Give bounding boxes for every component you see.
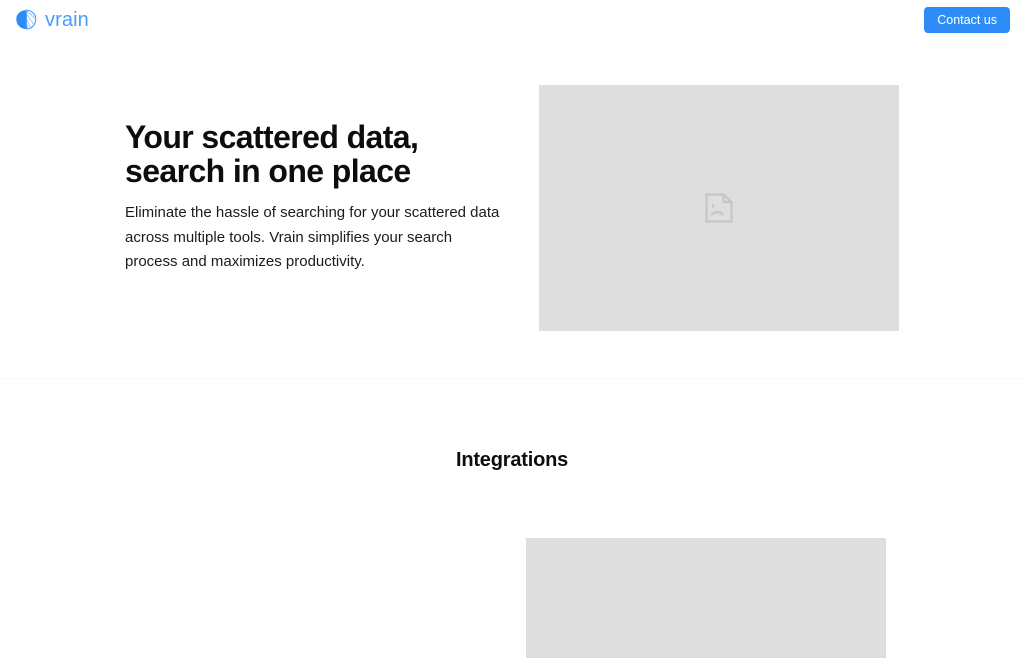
integrations-image-placeholder <box>526 538 886 658</box>
hero-section: Your scattered data, search in one place… <box>0 40 1024 378</box>
brain-logo-icon <box>14 8 38 32</box>
hero-copy-block: Your scattered data, search in one place… <box>125 120 520 275</box>
broken-image-icon <box>705 193 733 223</box>
hero-heading: Your scattered data, search in one place <box>125 120 520 188</box>
top-navbar: vrain Contact us <box>0 0 1024 40</box>
integrations-section: Integrations <box>0 379 1024 576</box>
landing-page: vrain Contact us Your scattered data, se… <box>0 0 1024 576</box>
integrations-heading: Integrations <box>0 448 1024 472</box>
brand-logo-link[interactable]: vrain <box>14 8 89 32</box>
brand-name: vrain <box>45 8 89 32</box>
hero-image-placeholder <box>539 85 899 331</box>
contact-us-button[interactable]: Contact us <box>924 7 1010 33</box>
hero-subheading: Eliminate the hassle of searching for yo… <box>125 201 500 275</box>
